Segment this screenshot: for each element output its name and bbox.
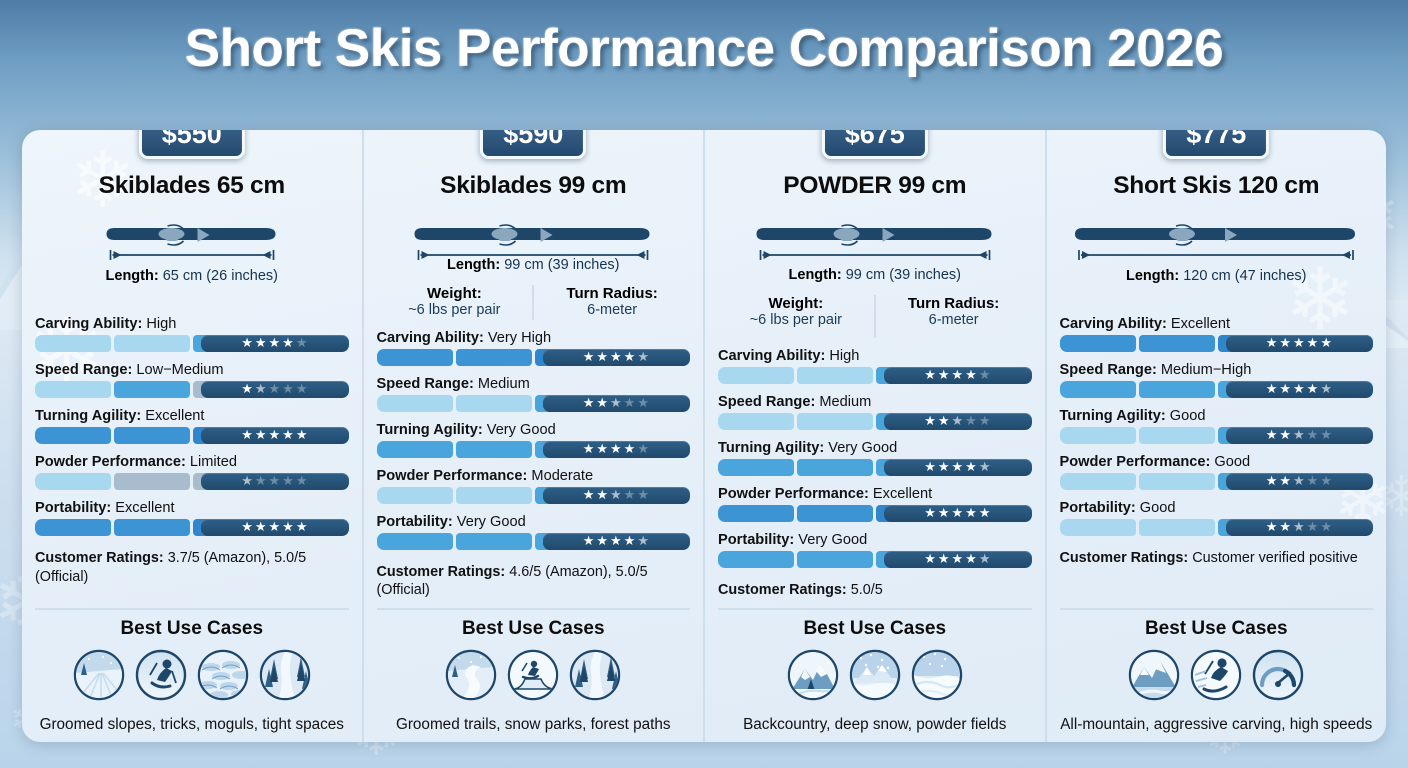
- star-rating: ★★★★★: [201, 381, 348, 398]
- star-half: ★: [637, 535, 650, 548]
- star-filled: ★: [1293, 383, 1306, 396]
- metric-row: Powder Performance: Excellent ★★★★★: [718, 486, 1032, 522]
- star-empty: ★: [282, 475, 295, 488]
- metric-row: Carving Ability: High ★★★★★: [35, 316, 349, 352]
- bar-segment: [35, 519, 111, 536]
- metric-label: Speed Range: Low−Medium: [35, 362, 349, 378]
- star-rating: ★★★★★: [884, 459, 1031, 476]
- star-rating: ★★★★★: [1226, 381, 1373, 398]
- customer-ratings-row: Customer Ratings: 5.0/5: [718, 581, 1032, 600]
- metric-value: High: [146, 316, 176, 332]
- price-badge[interactable]: $775: [1163, 130, 1269, 159]
- mountain-icon: [1128, 649, 1180, 706]
- bar-segment: [1060, 381, 1136, 398]
- metric-bar: ★★★★★: [718, 505, 1032, 522]
- star-empty: ★: [1320, 429, 1333, 442]
- star-filled: ★: [1266, 383, 1279, 396]
- length-row: Length: 99 cm (39 inches): [718, 267, 1032, 283]
- star-empty: ★: [1307, 429, 1320, 442]
- metric-label-text: Speed Range:: [377, 376, 474, 392]
- star-filled: ★: [1293, 337, 1306, 350]
- turn-radius-label: Turn Radius:: [876, 295, 1032, 312]
- bar-segment: [797, 459, 873, 476]
- price-badge[interactable]: $550: [139, 130, 245, 159]
- metric-bar: ★★★★★: [1060, 427, 1374, 444]
- spacer: [35, 284, 349, 306]
- star-rating: ★★★★★: [543, 487, 690, 504]
- metric-value: Low−Medium: [136, 362, 223, 378]
- star-rating: ★★★★★: [1226, 335, 1373, 352]
- length-value: 99 cm (39 inches): [846, 267, 961, 283]
- metric-label: Turning Agility: Good: [1060, 408, 1374, 424]
- metric-label-text: Powder Performance:: [1060, 454, 1211, 470]
- product-card[interactable]: $775 Short Skis 120 cm Length: 120 cm (4…: [1045, 130, 1387, 742]
- star-rating: ★★★★★: [1226, 473, 1373, 490]
- metric-label-text: Turning Agility:: [377, 422, 483, 438]
- bar-segment: [35, 473, 111, 490]
- product-card[interactable]: $590 Skiblades 99 cm Length: 99 cm (39 i…: [362, 130, 704, 742]
- star-filled: ★: [610, 535, 623, 548]
- star-half: ★: [1320, 383, 1333, 396]
- star-rating: ★★★★★: [201, 473, 348, 490]
- bar-segment: [1060, 519, 1136, 536]
- turn-radius-block: Turn Radius: 6-meter: [876, 295, 1032, 338]
- star-filled: ★: [282, 337, 295, 350]
- star-empty: ★: [624, 397, 637, 410]
- star-filled: ★: [296, 521, 309, 534]
- star-rating: ★★★★★: [884, 413, 1031, 430]
- star-rating: ★★★★★: [1226, 519, 1373, 536]
- star-rating: ★★★★★: [543, 349, 690, 366]
- star-filled: ★: [1307, 337, 1320, 350]
- star-filled: ★: [1266, 521, 1279, 534]
- comparison-panel: ❄ ❄ ❄ ❄ $550 Skiblades 65 cm Length: 65 …: [22, 130, 1386, 742]
- metric-label: Powder Performance: Moderate: [377, 468, 691, 484]
- metric-label: Speed Range: Medium: [377, 376, 691, 392]
- star-empty: ★: [965, 415, 978, 428]
- moguls-icon: [197, 649, 249, 706]
- star-filled: ★: [583, 351, 596, 364]
- ski-shape: [104, 214, 279, 264]
- bar-segment: [797, 367, 873, 384]
- star-half: ★: [952, 415, 965, 428]
- star-half: ★: [1293, 521, 1306, 534]
- star-empty: ★: [637, 443, 650, 456]
- star-filled: ★: [965, 507, 978, 520]
- weight-value: ~6 lbs per pair: [408, 302, 500, 318]
- star-filled: ★: [296, 429, 309, 442]
- star-filled: ★: [269, 337, 282, 350]
- weight-block: Weight: ~6 lbs per pair: [377, 285, 535, 320]
- star-rating: ★★★★★: [884, 505, 1031, 522]
- bar-segment: [377, 441, 453, 458]
- star-filled: ★: [1279, 475, 1292, 488]
- bar-segment: [456, 349, 532, 366]
- metric-row: Speed Range: Low−Medium ★★★★★: [35, 362, 349, 398]
- star-empty: ★: [979, 415, 992, 428]
- metric-label-text: Turning Agility:: [1060, 408, 1166, 424]
- metric-value: Good: [1214, 454, 1250, 470]
- star-empty: ★: [269, 475, 282, 488]
- metric-label-text: Powder Performance:: [35, 454, 186, 470]
- powder-field-icon: [911, 649, 963, 706]
- metric-value: Very Good: [487, 422, 556, 438]
- metric-value: Good: [1140, 500, 1176, 516]
- metric-row: Carving Ability: High ★★★★★: [718, 348, 1032, 384]
- star-filled: ★: [1279, 521, 1292, 534]
- star-filled: ★: [610, 443, 623, 456]
- best-use-section: Best Use Cases Al: [1060, 600, 1374, 742]
- star-filled: ★: [952, 553, 965, 566]
- metric-label-text: Carving Ability:: [1060, 316, 1167, 332]
- star-filled: ★: [583, 489, 596, 502]
- bar-segment: [718, 551, 794, 568]
- star-filled: ★: [965, 553, 978, 566]
- turn-radius-value: 6-meter: [929, 312, 979, 328]
- bar-segment: [1060, 473, 1136, 490]
- star-filled: ★: [241, 429, 254, 442]
- star-filled: ★: [583, 535, 596, 548]
- metric-label: Speed Range: Medium−High: [1060, 362, 1374, 378]
- speedometer-icon: [1252, 649, 1304, 706]
- bar-segment: [797, 505, 873, 522]
- star-half: ★: [241, 475, 254, 488]
- star-half: ★: [979, 553, 992, 566]
- metric-label: Portability: Very Good: [377, 514, 691, 530]
- star-filled: ★: [924, 553, 937, 566]
- metric-bar: ★★★★★: [35, 381, 349, 398]
- metric-bar: ★★★★★: [377, 349, 691, 366]
- bar-segment: [1139, 427, 1215, 444]
- customer-ratings-value: Customer verified positive: [1192, 550, 1358, 566]
- metric-label-text: Turning Agility:: [35, 408, 141, 424]
- deep-snow-icon: [849, 649, 901, 706]
- bar-segment: [377, 349, 453, 366]
- metric-bar: ★★★★★: [35, 427, 349, 444]
- bar-segment: [1139, 473, 1215, 490]
- star-half: ★: [1293, 475, 1306, 488]
- star-empty: ★: [1307, 521, 1320, 534]
- metric-bar: ★★★★★: [718, 459, 1032, 476]
- groomed-trail-icon: [445, 649, 497, 706]
- metric-row: Speed Range: Medium ★★★★★: [718, 394, 1032, 430]
- forest-path-icon: [259, 649, 311, 706]
- star-filled: ★: [952, 369, 965, 382]
- metric-label: Speed Range: Medium: [718, 394, 1032, 410]
- metric-value: Good: [1170, 408, 1206, 424]
- star-filled: ★: [924, 369, 937, 382]
- star-filled: ★: [241, 337, 254, 350]
- page-title: Short Skis Performance Comparison 2026: [0, 18, 1408, 79]
- weight-radius-row: Weight: ~6 lbs per pair Turn Radius: 6-m…: [718, 295, 1032, 338]
- bar-segment: [1139, 381, 1215, 398]
- star-filled: ★: [241, 521, 254, 534]
- price-badge[interactable]: $590: [480, 130, 586, 159]
- star-filled: ★: [938, 507, 951, 520]
- ski-diagram: [718, 214, 1032, 265]
- turn-radius-value: 6-meter: [587, 302, 637, 318]
- bar-segment: [114, 473, 190, 490]
- use-case-icons: [377, 649, 691, 706]
- metric-row: Speed Range: Medium ★★★★★: [377, 376, 691, 412]
- star-filled: ★: [241, 383, 254, 396]
- product-name: Skiblades 65 cm: [35, 172, 349, 200]
- star-filled: ★: [938, 415, 951, 428]
- metric-value: High: [829, 348, 859, 364]
- star-filled: ★: [1279, 383, 1292, 396]
- weight-label: Weight:: [718, 295, 874, 312]
- bar-segment: [377, 395, 453, 412]
- star-filled: ★: [1320, 337, 1333, 350]
- turn-radius-block: Turn Radius: 6-meter: [534, 285, 690, 320]
- metric-bar: ★★★★★: [718, 551, 1032, 568]
- metric-row: Portability: Excellent ★★★★★: [35, 500, 349, 536]
- star-filled: ★: [1307, 383, 1320, 396]
- bar-segment: [797, 551, 873, 568]
- metric-bar: ★★★★★: [35, 335, 349, 352]
- metric-value: Excellent: [115, 500, 174, 516]
- metric-row: Carving Ability: Very High ★★★★★: [377, 330, 691, 366]
- bar-segment: [1139, 335, 1215, 352]
- star-filled: ★: [938, 369, 951, 382]
- groomed-slope-icon: [73, 649, 125, 706]
- star-filled: ★: [269, 429, 282, 442]
- metric-label-text: Powder Performance:: [377, 468, 528, 484]
- metric-bar: ★★★★★: [35, 473, 349, 490]
- star-filled: ★: [952, 461, 965, 474]
- star-filled: ★: [979, 507, 992, 520]
- weight-value: ~6 lbs per pair: [750, 312, 842, 328]
- star-empty: ★: [296, 475, 309, 488]
- star-filled: ★: [938, 461, 951, 474]
- metric-row: Turning Agility: Very Good ★★★★★: [718, 440, 1032, 476]
- star-rating: ★★★★★: [543, 395, 690, 412]
- use-case-caption: Groomed trails, snow parks, forest paths: [377, 716, 691, 734]
- metric-label: Turning Agility: Very Good: [377, 422, 691, 438]
- metric-bar: ★★★★★: [1060, 381, 1374, 398]
- star-filled: ★: [1279, 429, 1292, 442]
- weight-radius-row: Weight: ~6 lbs per pair Turn Radius: 6-m…: [377, 285, 691, 320]
- customer-ratings-label: Customer Ratings:: [1060, 550, 1189, 566]
- star-rating: ★★★★★: [543, 441, 690, 458]
- star-empty: ★: [269, 383, 282, 396]
- star-filled: ★: [596, 351, 609, 364]
- star-rating: ★★★★★: [884, 551, 1031, 568]
- metric-label-text: Speed Range:: [35, 362, 132, 378]
- customer-ratings-row: Customer Ratings: Customer verified posi…: [1060, 549, 1374, 568]
- star-filled: ★: [1266, 429, 1279, 442]
- metric-label-text: Portability:: [35, 500, 111, 516]
- metric-row: Portability: Very Good ★★★★★: [377, 514, 691, 550]
- length-value: 120 cm (47 inches): [1183, 268, 1306, 284]
- turn-radius-label: Turn Radius:: [534, 285, 690, 302]
- bar-segment: [1139, 519, 1215, 536]
- ski-shape: [754, 214, 995, 264]
- use-case-icons: [718, 649, 1032, 706]
- divider: [377, 608, 691, 610]
- bar-segment: [456, 441, 532, 458]
- star-filled: ★: [1266, 475, 1279, 488]
- star-filled: ★: [1279, 337, 1292, 350]
- star-filled: ★: [624, 351, 637, 364]
- product-card[interactable]: $550 Skiblades 65 cm Length: 65 cm (26 i…: [22, 130, 362, 742]
- star-filled: ★: [624, 443, 637, 456]
- star-filled: ★: [624, 535, 637, 548]
- divider: [35, 608, 349, 610]
- star-empty: ★: [637, 489, 650, 502]
- metric-label-text: Powder Performance:: [718, 486, 869, 502]
- length-label: Length:: [1126, 268, 1179, 284]
- metric-bar: ★★★★★: [1060, 519, 1374, 536]
- star-rating: ★★★★★: [543, 533, 690, 550]
- bar-segment: [35, 335, 111, 352]
- length-row: Length: 65 cm (26 inches): [35, 268, 349, 284]
- metric-label-text: Carving Ability:: [35, 316, 142, 332]
- bar-segment: [35, 427, 111, 444]
- bar-segment: [718, 367, 794, 384]
- star-filled: ★: [282, 521, 295, 534]
- star-filled: ★: [938, 553, 951, 566]
- star-empty: ★: [1307, 475, 1320, 488]
- metric-label: Portability: Good: [1060, 500, 1374, 516]
- star-filled: ★: [596, 397, 609, 410]
- metric-value: Medium: [819, 394, 871, 410]
- metric-row: Speed Range: Medium−High ★★★★★: [1060, 362, 1374, 398]
- length-value: 65 cm (26 inches): [163, 268, 278, 284]
- metric-label-text: Turning Agility:: [718, 440, 824, 456]
- star-rating: ★★★★★: [201, 335, 348, 352]
- metric-bar: ★★★★★: [1060, 473, 1374, 490]
- bar-segment: [797, 413, 873, 430]
- metric-label-text: Speed Range:: [718, 394, 815, 410]
- customer-ratings-row: Customer Ratings: 3.7/5 (Amazon), 5.0/5 …: [35, 549, 349, 586]
- star-empty: ★: [282, 383, 295, 396]
- star-filled: ★: [269, 521, 282, 534]
- product-card[interactable]: $675 POWDER 99 cm Length: 99 cm (39 inch…: [703, 130, 1045, 742]
- price-badge[interactable]: $675: [822, 130, 928, 159]
- metric-label: Powder Performance: Excellent: [718, 486, 1032, 502]
- bar-segment: [1060, 427, 1136, 444]
- star-filled: ★: [1266, 337, 1279, 350]
- metric-row: Portability: Very Good ★★★★★: [718, 532, 1032, 568]
- best-use-section: Best Use Cases: [377, 600, 691, 742]
- metric-value: Limited: [190, 454, 237, 470]
- bar-segment: [35, 381, 111, 398]
- metric-value: Very High: [488, 330, 551, 346]
- star-filled: ★: [924, 507, 937, 520]
- metric-value: Very Good: [457, 514, 526, 530]
- star-half: ★: [979, 461, 992, 474]
- metric-bar: ★★★★★: [718, 367, 1032, 384]
- bar-segment: [114, 427, 190, 444]
- metric-label: Carving Ability: High: [35, 316, 349, 332]
- bar-segment: [718, 459, 794, 476]
- bar-segment: [456, 533, 532, 550]
- metric-row: Powder Performance: Moderate ★★★★★: [377, 468, 691, 504]
- star-filled: ★: [282, 429, 295, 442]
- metrics-list: Carving Ability: High ★★★★★ Speed Range:…: [718, 348, 1032, 578]
- metric-row: Turning Agility: Good ★★★★★: [1060, 408, 1374, 444]
- metric-value: Medium: [478, 376, 530, 392]
- ski-trick-icon: [135, 649, 187, 706]
- best-use-section: Best Use Cases: [35, 600, 349, 742]
- star-empty: ★: [296, 337, 309, 350]
- customer-ratings-label: Customer Ratings:: [718, 582, 847, 598]
- length-row: Length: 120 cm (47 inches): [1060, 268, 1374, 284]
- metric-value: Medium−High: [1161, 362, 1251, 378]
- metric-bar: ★★★★★: [377, 441, 691, 458]
- star-empty: ★: [624, 489, 637, 502]
- ski-shape: [1073, 214, 1359, 264]
- metric-value: Very Good: [828, 440, 897, 456]
- customer-ratings-row: Customer Ratings: 4.6/5 (Amazon), 5.0/5 …: [377, 563, 691, 600]
- star-empty: ★: [255, 475, 268, 488]
- weight-label: Weight:: [377, 285, 533, 302]
- star-filled: ★: [924, 461, 937, 474]
- metric-row: Carving Ability: Excellent ★★★★★: [1060, 316, 1374, 352]
- product-name: Skiblades 99 cm: [377, 172, 691, 200]
- metric-label-text: Carving Ability:: [718, 348, 825, 364]
- bar-segment: [114, 335, 190, 352]
- star-filled: ★: [255, 521, 268, 534]
- bar-segment: [114, 519, 190, 536]
- metric-label-text: Carving Ability:: [377, 330, 484, 346]
- product-name: Short Skis 120 cm: [1060, 172, 1374, 200]
- ski-diagram: [35, 214, 349, 266]
- metric-bar: ★★★★★: [718, 413, 1032, 430]
- best-use-title: Best Use Cases: [718, 618, 1032, 640]
- metric-bar: ★★★★★: [35, 519, 349, 536]
- bar-segment: [456, 487, 532, 504]
- star-half: ★: [637, 351, 650, 364]
- star-filled: ★: [596, 489, 609, 502]
- star-rating: ★★★★★: [201, 519, 348, 536]
- star-filled: ★: [596, 535, 609, 548]
- star-rating: ★★★★★: [884, 367, 1031, 384]
- star-filled: ★: [610, 351, 623, 364]
- best-use-section: Best Use Cases: [718, 600, 1032, 742]
- star-half: ★: [610, 397, 623, 410]
- best-use-title: Best Use Cases: [377, 618, 691, 640]
- star-filled: ★: [952, 507, 965, 520]
- star-half: ★: [610, 489, 623, 502]
- metric-row: Turning Agility: Very Good ★★★★★: [377, 422, 691, 458]
- ski-diagram: [377, 214, 691, 255]
- metrics-list: Carving Ability: High ★★★★★ Speed Range:…: [35, 316, 349, 546]
- aggressive-carve-icon: [1190, 649, 1242, 706]
- metric-label-text: Portability:: [718, 532, 794, 548]
- forest-path-icon: [569, 649, 621, 706]
- snow-park-icon: [507, 649, 559, 706]
- star-filled: ★: [255, 337, 268, 350]
- ski-diagram: [1060, 214, 1374, 266]
- product-name: POWDER 99 cm: [718, 172, 1032, 200]
- use-case-caption: Groomed slopes, tricks, moguls, tight sp…: [35, 716, 349, 734]
- divider: [718, 608, 1032, 610]
- metrics-list: Carving Ability: Very High ★★★★★ Speed R…: [377, 330, 691, 560]
- length-label: Length:: [106, 268, 159, 284]
- star-filled: ★: [965, 461, 978, 474]
- best-use-title: Best Use Cases: [35, 618, 349, 640]
- ski-shape: [413, 214, 654, 264]
- metric-row: Powder Performance: Good ★★★★★: [1060, 454, 1374, 490]
- metric-bar: ★★★★★: [377, 533, 691, 550]
- metric-label: Portability: Very Good: [718, 532, 1032, 548]
- metric-bar: ★★★★★: [1060, 335, 1374, 352]
- star-rating: ★★★★★: [1226, 427, 1373, 444]
- metric-label-text: Portability:: [377, 514, 453, 530]
- metric-label: Carving Ability: High: [718, 348, 1032, 364]
